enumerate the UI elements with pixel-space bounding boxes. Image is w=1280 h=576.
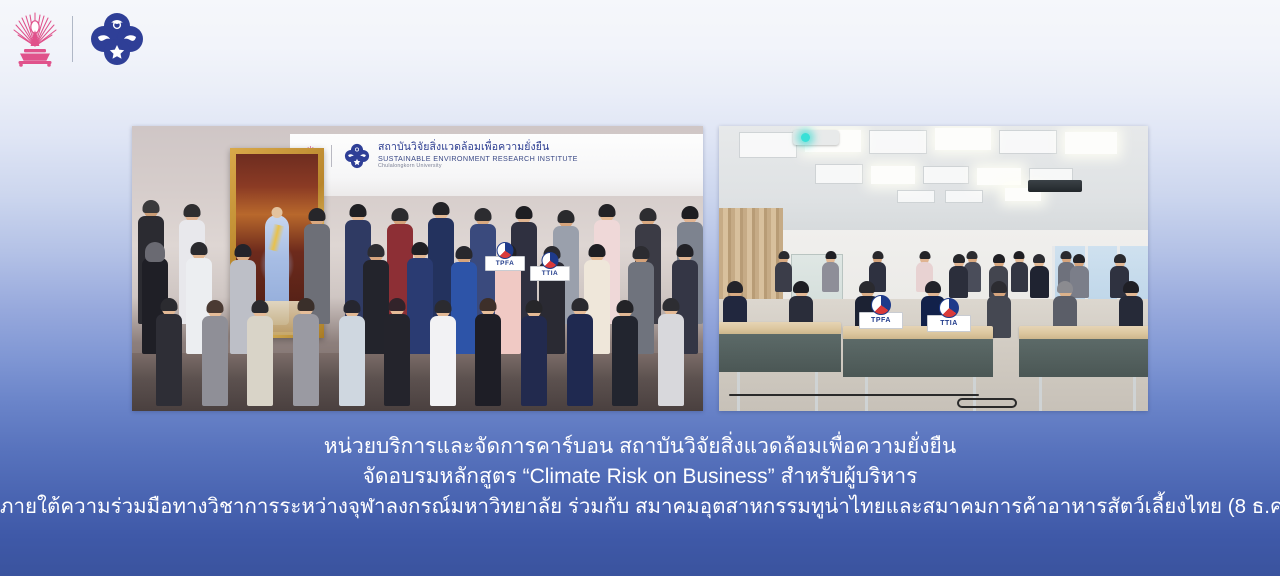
ceiling-projector bbox=[793, 130, 839, 145]
banner-university-name: Chulalongkorn University bbox=[378, 164, 578, 169]
ttia-badge-icon bbox=[542, 252, 559, 269]
banner-english-title: SUSTAINABLE ENVIRONMENT RESEARCH INSTITU… bbox=[378, 155, 578, 162]
floor-cable-coil bbox=[957, 398, 1017, 408]
banner-divider bbox=[331, 145, 332, 167]
banner-thai-title: สถาบันวิจัยสิ่งแวดล้อมเพื่อความยั่งยืน bbox=[378, 142, 578, 153]
air-conditioner bbox=[1028, 180, 1082, 192]
tpfa-badge-icon bbox=[497, 242, 514, 259]
brand-lockup bbox=[12, 8, 145, 70]
group-photo-sign-ttia: TTIA bbox=[530, 266, 570, 281]
ttia-desk-badge-icon bbox=[939, 298, 959, 318]
seminar-room-photo: TPFA TTIA bbox=[719, 126, 1148, 411]
desk-left bbox=[719, 322, 841, 334]
group-front-row bbox=[156, 294, 684, 406]
slide-canvas: สถาบันวิจัยสิ่งแวดล้อมเพื่อความยั่งยืน S… bbox=[0, 0, 1280, 576]
chulalongkorn-university-phra-kiao-icon bbox=[12, 10, 58, 68]
brand-divider bbox=[72, 16, 73, 62]
institute-banner: สถาบันวิจัยสิ่งแวดล้อมเพื่อความยั่งยืน S… bbox=[290, 134, 703, 196]
caption-line-1: หน่วยบริการและจัดการคาร์บอน สถาบันวิจัยส… bbox=[0, 432, 1280, 462]
group-photo-sign-tpfa: TPFA bbox=[485, 256, 525, 271]
desk-sign-tpfa: TPFA bbox=[859, 312, 903, 329]
caption-line-2: จัดอบรมหลักสูตร “Climate Risk on Busines… bbox=[0, 462, 1280, 492]
caption-line-3: ภายใต้ความร่วมมือทางวิชาการระหว่างจุฬาลง… bbox=[0, 492, 1280, 521]
desk-sign-ttia: TTIA bbox=[927, 315, 971, 332]
caption-block: หน่วยบริการและจัดการคาร์บอน สถาบันวิจัยส… bbox=[0, 432, 1280, 521]
floor-cable bbox=[729, 394, 979, 396]
ceiling bbox=[719, 126, 1148, 244]
desk-right bbox=[1019, 326, 1148, 339]
seri-institute-emblem-icon bbox=[89, 11, 145, 67]
banner-institute-emblem-icon bbox=[344, 143, 370, 169]
group-photo: สถาบันวิจัยสิ่งแวดล้อมเพื่อความยั่งยืน S… bbox=[132, 126, 703, 411]
photo-row: สถาบันวิจัยสิ่งแวดล้อมเพื่อความยั่งยืน S… bbox=[132, 126, 1148, 411]
tpfa-desk-badge-icon bbox=[871, 295, 891, 315]
